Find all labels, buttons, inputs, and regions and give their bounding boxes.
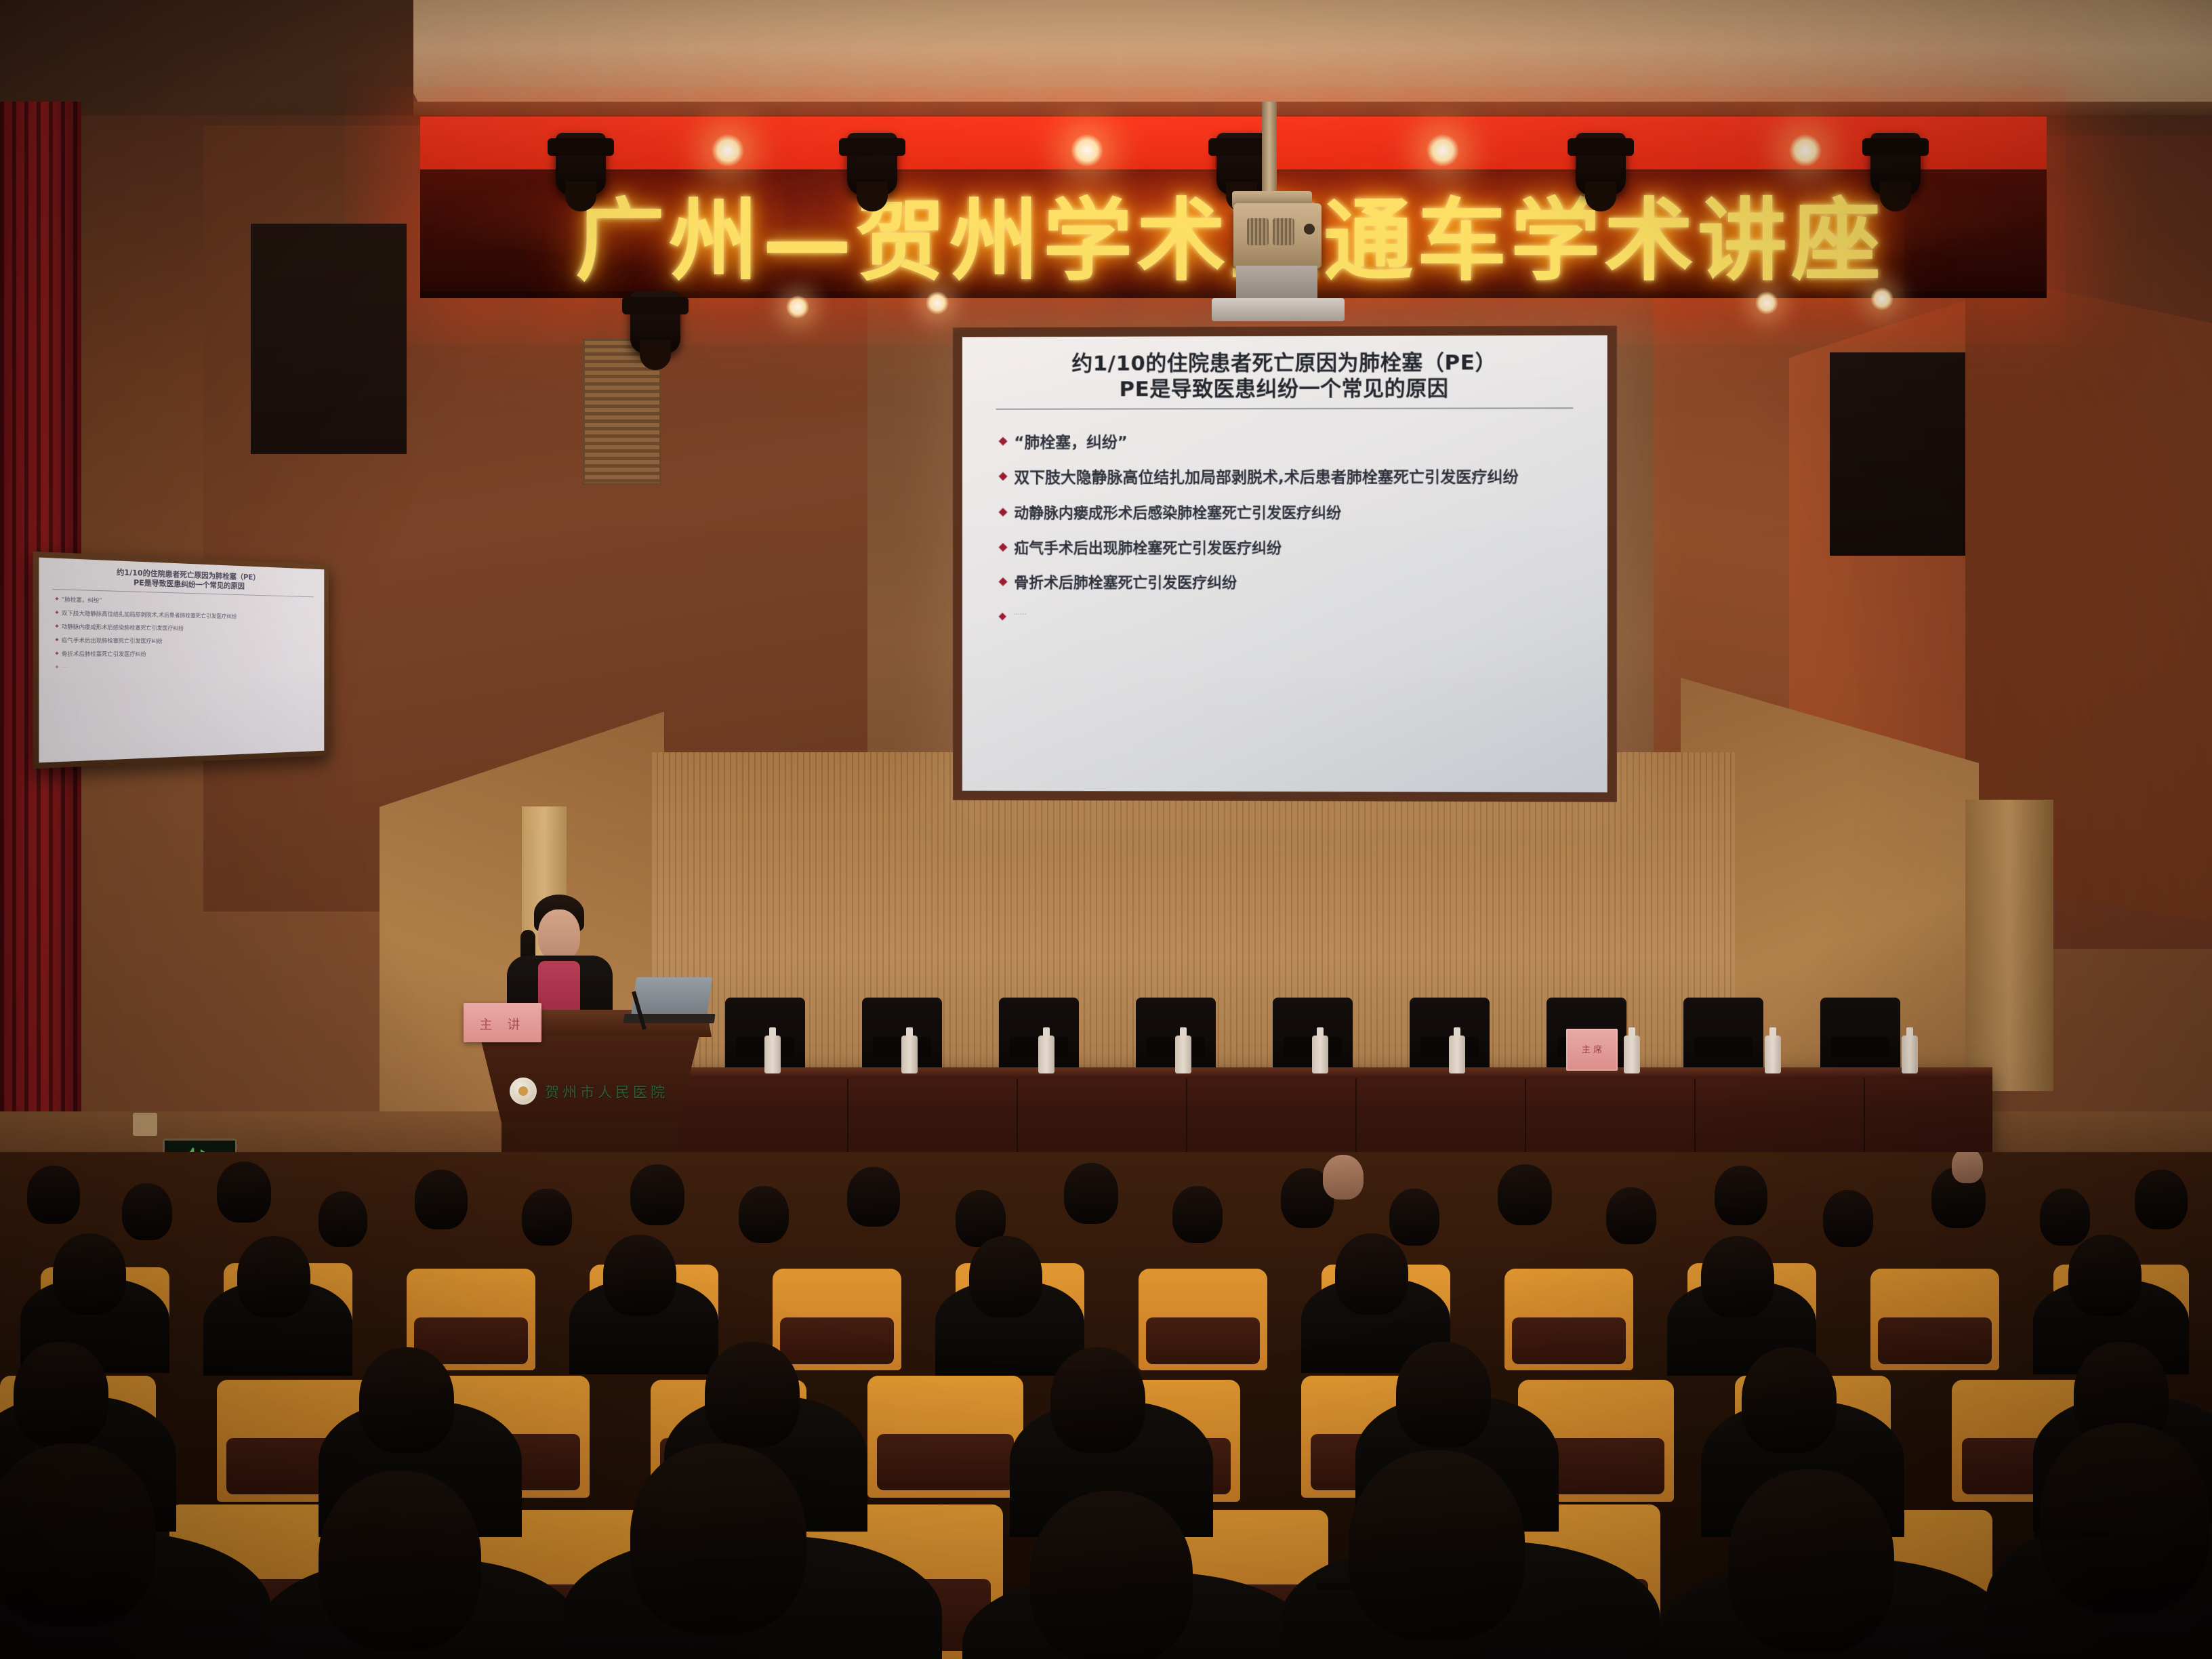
bullet-icon: ◆ [999,432,1008,449]
slide-bullet-item: ◆ “肺栓塞，纠纷” [999,432,1587,453]
ceiling-downlight-1 [712,134,744,167]
bullet-icon: ◆ [55,623,58,631]
audience-head [217,1162,271,1223]
slide-bullet-text: 双下肢大隐静脉高位结扎加局部剥脱术,术后患者肺栓塞死亡引发医疗纠纷 [1014,468,1518,489]
water-bottle [764,1036,781,1073]
ceiling-downlight-3 [1427,134,1459,167]
audience-head [1335,1233,1408,1315]
monitor-bullet-text: 疝气手术后出现肺栓塞死亡引发医疗纠纷 [62,637,163,645]
monitor-bullet-item: ◆ 疝气手术后出现肺栓塞死亡引发医疗纠纷 [55,637,317,646]
bullet-icon: ◆ [55,651,58,658]
head-table-chair [1683,998,1763,1073]
slide-bullet-text: 疝气手术后出现肺栓塞死亡引发医疗纠纷 [1014,539,1282,558]
bullet-icon: ◆ [55,664,58,670]
water-bottle [1038,1036,1054,1073]
projector-vent-right [1273,218,1294,245]
bullet-icon: ◆ [55,596,58,603]
monitor-bullet-text: 骨折术后肺栓塞死亡引发医疗纠纷 [62,651,146,658]
glasses-icon [2052,1532,2091,1538]
presenter-name-card: 主 讲 [464,1003,541,1042]
audience-head [2135,1170,2188,1229]
audience-head [1498,1164,1552,1225]
monitor-bullet-item: ◆ 双下肢大隐静脉高位结扎加局部剥脱术,术后患者肺栓塞死亡引发医疗纠纷 [55,609,317,621]
slide-bullet-item: ◆ 动静脉内瘘成形术后感染肺栓塞死亡引发医疗纠纷 [999,504,1587,524]
bullet-icon: ◆ [55,609,58,617]
monitor-bullet-item: ◆ “肺栓塞，纠纷” [55,596,317,609]
projector-bottom-plate [1212,298,1345,321]
water-bottle [1449,1036,1465,1073]
ceiling-downlight-5 [786,295,809,319]
water-bottle [1624,1036,1640,1073]
audience-head-foreground [319,1471,481,1650]
projector-vent-left [1247,218,1269,245]
wall-speaker-left [251,224,407,454]
slide-bullet-item: ◆ 疝气手术后出现肺栓塞死亡引发医疗纠纷 [999,539,1587,559]
monitor-bullet-text: 双下肢大隐静脉高位结扎加局部剥脱术,术后患者肺栓塞死亡引发医疗纠纷 [62,610,237,620]
audience-head [522,1189,572,1246]
audience-head-foreground [630,1443,806,1633]
head-table-chair [1820,998,1900,1073]
bullet-icon: ◆ [999,608,1006,623]
audience-head-foreground [1349,1450,1525,1640]
audience-head [1823,1190,1873,1247]
stage-spotlight-3 [1216,133,1267,195]
water-bottle [1312,1036,1328,1073]
ceiling-downlight-6 [926,291,949,314]
monitor-bullet-item: ◆ …… [55,663,317,670]
confidence-monitor-display: 约1/10的住院患者死亡原因为肺栓塞（PE） PE是导致医患纠纷一个常见的原因 … [39,558,324,763]
audience-head [1701,1236,1774,1317]
audience-head [2040,1189,2090,1246]
bullet-icon: ◆ [999,539,1008,556]
slide-divider [996,407,1574,410]
place-card-text: 主 席 [1566,1042,1618,1055]
wall-speaker-right [1830,352,1965,556]
bullet-icon: ◆ [55,637,58,644]
seat-cushion [1878,1317,1991,1364]
stage-spotlight-6 [630,291,680,354]
glasses-icon [1334,1583,1373,1590]
audience-head [739,1186,789,1243]
audience-head [630,1164,684,1225]
seat-cushion [877,1434,1014,1490]
audience-head [603,1235,676,1316]
stage-spotlight-5 [1870,133,1921,195]
audience-head [1742,1347,1837,1453]
stage-spotlight-4 [1576,133,1626,195]
slide-bullet-item: ◆ …… [999,608,1587,623]
projector-lens-icon [1304,224,1315,234]
audience-head-foreground [2040,1423,2209,1613]
audience-head [27,1166,80,1224]
audience-head [319,1191,367,1247]
lectern-front-panel: 贺州市人民医院 [480,1036,699,1124]
slide-bullet-list: ◆ “肺栓塞，纠纷” ◆ 双下肢大隐静脉高位结扎加局部剥脱术,术后患者肺栓塞死亡… [983,432,1587,624]
seat-cushion [780,1317,893,1364]
slide-bullet-text: 骨折术后肺栓塞死亡引发医疗纠纷 [1014,573,1237,593]
projection-screen-frame: 约1/10的住院患者死亡原因为肺栓塞（PE） PE是导致医患纠纷一个常见的原因 … [953,326,1617,802]
audience-head [1172,1186,1223,1243]
auditorium-seat[interactable] [1139,1269,1267,1370]
presenter-laptop [631,977,712,1017]
bullet-icon: ◆ [999,504,1008,521]
water-bottle [1175,1036,1191,1073]
seat-cushion [1512,1317,1625,1364]
audience-hand-raised [1952,1152,1983,1183]
slide-title-line-2: PE是导致医患纠纷一个常见的原因 [983,376,1587,403]
audience-head-foreground [0,1443,156,1626]
ceiling-downlight-7 [1755,291,1778,314]
audience-head [415,1170,468,1229]
lectern-org-text: 贺州市人民医院 [545,1082,668,1102]
stage-spotlight-1 [556,133,606,195]
audience-head [969,1236,1042,1317]
projector-mount-pole [1262,102,1277,203]
monitor-bullet-item: ◆ 骨折术后肺栓塞死亡引发医疗纠纷 [55,651,317,658]
audience-head [1715,1166,1767,1225]
audience-head [122,1183,172,1240]
audience-head-foreground [1728,1469,1894,1652]
auditorium-seat[interactable] [1870,1269,1999,1370]
audience-head [2068,1235,2142,1316]
audience-head [1064,1163,1118,1224]
head-table-top-edge [678,1067,1992,1078]
slide-bullet-text: “肺栓塞，纠纷” [1014,432,1127,453]
slide-bullet-text: …… [1013,608,1027,617]
glasses-icon [710,1559,750,1565]
ceiling-downlight-4 [1789,134,1822,167]
audience-head [14,1342,108,1448]
monitor-bullet-item: ◆ 动静脉内瘘成形术后感染肺栓塞死亡引发医疗纠纷 [55,623,317,634]
ceiling-soffit [366,0,2212,108]
slide-bullet-text: 动静脉内瘘成形术后感染肺栓塞死亡引发医疗纠纷 [1014,504,1341,524]
audience-head [1389,1189,1439,1246]
audience-head [1050,1347,1145,1453]
seat-cushion [1146,1317,1259,1364]
presenter-name-card-text: 主 讲 [464,1015,541,1033]
auditorium-seat[interactable] [867,1376,1023,1498]
audience-head [847,1167,900,1227]
ceiling-downlight-8 [1870,287,1893,310]
hospital-logo-icon [510,1078,537,1105]
wall-socket [133,1113,157,1136]
audience-head [359,1347,454,1453]
auditorium-seat[interactable] [1504,1269,1633,1370]
projection-screen: 约1/10的住院患者死亡原因为肺栓塞（PE） PE是导致医患纠纷一个常见的原因 … [962,335,1607,793]
ceiling-downlight-2 [1071,134,1103,167]
audience-head-raised [1323,1155,1364,1200]
slide-bullet-item: ◆ 骨折术后肺栓塞死亡引发医疗纠纷 [999,573,1587,594]
monitor-bullet-text: 动静脉内瘘成形术后感染肺栓塞死亡引发医疗纠纷 [62,623,184,632]
water-bottle [1765,1036,1781,1073]
slide-title-line-1: 约1/10的住院患者死亡原因为肺栓塞（PE） [983,350,1587,377]
monitor-bullet-text: …… [62,664,69,670]
head-table-place-card: 主 席 [1566,1029,1618,1071]
confidence-monitor: 约1/10的住院患者死亡原因为肺栓塞（PE） PE是导致医患纠纷一个常见的原因 … [33,552,329,769]
audience-head-foreground [1030,1491,1193,1659]
ceiling-projector [1233,203,1322,268]
bullet-icon: ◆ [999,573,1008,590]
presenter-head [538,909,580,961]
auditorium-seat[interactable] [773,1269,901,1370]
auditorium-photo: 广州—贺州学术直通车学术讲座 约1/10的住院患者死亡原因为肺栓塞（PE） PE… [0,0,2212,1659]
slide-bullet-item: ◆ 双下肢大隐静脉高位结扎加局部剥脱术,术后患者肺栓塞死亡引发医疗纠纷 [999,468,1587,489]
audience-head [1396,1342,1491,1448]
audience-head [1606,1187,1656,1244]
audience-area [0,1152,2212,1659]
stage-spotlight-2 [847,133,897,195]
audience-head [705,1342,800,1448]
audience-head [53,1233,126,1315]
audience-head [237,1236,310,1317]
projector-base [1236,266,1317,302]
stage-door-right [1965,800,2053,1091]
water-bottle [901,1036,918,1073]
monitor-bullet-text: “肺栓塞，纠纷” [62,596,102,605]
bullet-icon: ◆ [999,468,1008,485]
water-bottle [1902,1036,1918,1073]
